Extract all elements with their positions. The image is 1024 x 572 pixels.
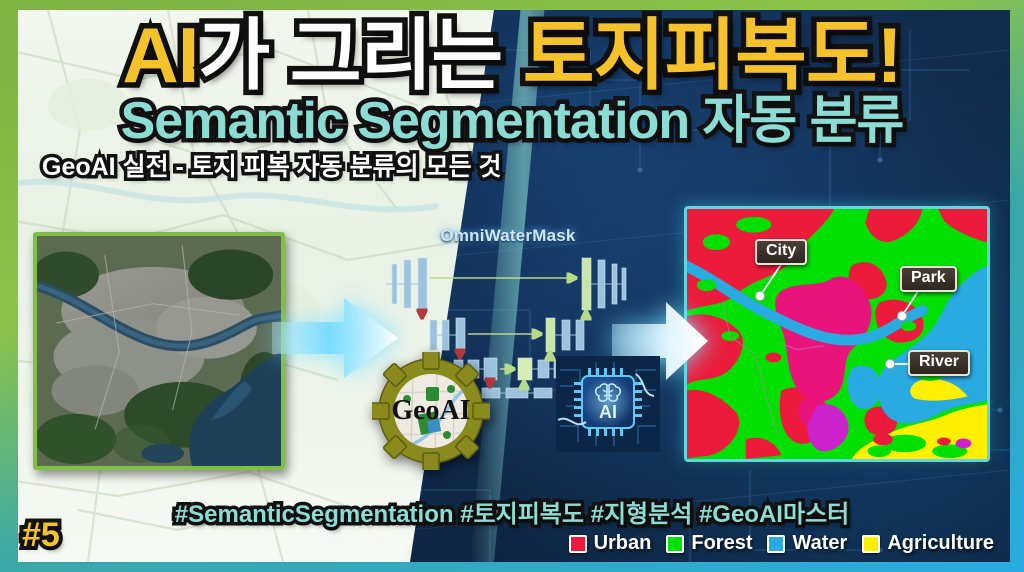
map-label-city: City	[755, 239, 807, 265]
title-mid-word: 가 그리는	[198, 11, 522, 99]
chip-label-text: AI	[599, 402, 617, 422]
ai-chip-icon: AI	[556, 356, 660, 452]
map-label-river: River	[908, 350, 970, 376]
episode-number-text: #5	[22, 516, 60, 554]
legend-label-water: Water	[792, 532, 847, 555]
legend-item-urban: Urban	[569, 532, 652, 555]
subtitle-geoai-practice: GeoAI 실전 - 토지 피복 자동 분류의 모든 것	[42, 153, 502, 181]
title-line-2: Semantic Segmentation 자동 분류	[0, 92, 1024, 150]
satellite-input-image	[33, 232, 285, 470]
title-ai-word: AI	[122, 11, 198, 99]
legend-label-forest: Forest	[691, 532, 752, 555]
segmentation-output-map	[684, 206, 990, 462]
legend-label-urban: Urban	[594, 532, 652, 555]
legend-item-water: Water	[767, 532, 847, 555]
legend-swatch-urban	[569, 535, 587, 553]
episode-number-badge: #5	[22, 516, 60, 555]
legend-item-agriculture: Agriculture	[862, 532, 994, 555]
title-highlight-word: 토지피복도!	[523, 11, 902, 99]
gear-label-text: GeoAI	[391, 395, 470, 426]
model-name-label: OmniWaterMask	[386, 226, 630, 246]
hashtag-text: #SemanticSegmentation #토지피복도 #지형분석 #GeoA…	[175, 501, 849, 528]
landcover-legend: Urban Forest Water Agriculture	[569, 532, 994, 555]
title-line-3: GeoAI 실전 - 토지 피복 자동 분류의 모든 것	[0, 152, 1024, 182]
legend-swatch-water	[767, 535, 785, 553]
subtitle-semantic-segmentation: Semantic Segmentation 자동 분류	[121, 92, 904, 150]
legend-swatch-forest	[666, 535, 684, 553]
legend-swatch-agriculture	[862, 535, 880, 553]
title-block: AI가 그리는 토지피복도! Semantic Segmentation 자동 …	[0, 14, 1024, 182]
map-label-park: Park	[900, 266, 957, 292]
thumbnail-canvas: AI가 그리는 토지피복도! Semantic Segmentation 자동 …	[0, 0, 1024, 572]
legend-item-forest: Forest	[666, 532, 752, 555]
geoai-gear-logo: GeoAI	[372, 352, 490, 470]
hashtag-row: #SemanticSegmentation #토지피복도 #지형분석 #GeoA…	[0, 494, 1024, 529]
title-line-1: AI가 그리는 토지피복도!	[0, 14, 1024, 96]
legend-label-agriculture: Agriculture	[887, 532, 994, 555]
